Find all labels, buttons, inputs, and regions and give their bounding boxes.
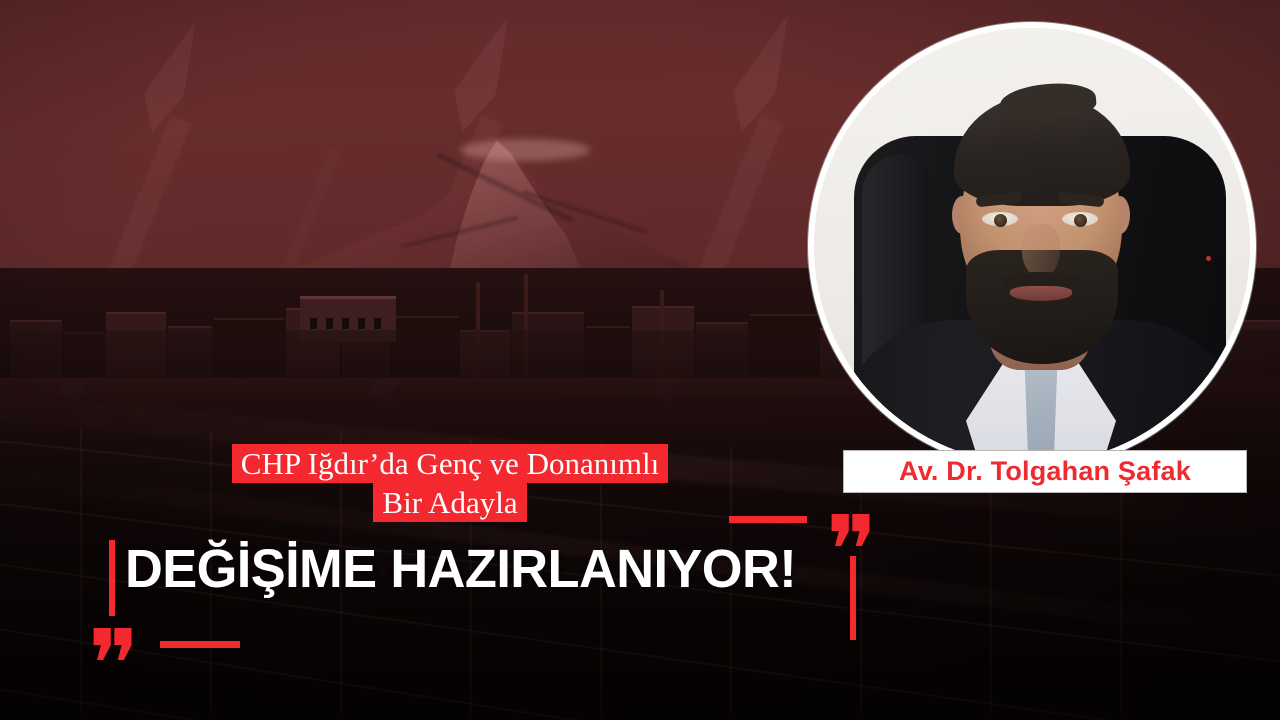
nose — [1022, 224, 1060, 278]
red-dot-marker — [1206, 256, 1211, 261]
bottom-accent-dash — [160, 641, 240, 648]
mouth — [1010, 286, 1072, 301]
candidate-name-text: Av. Dr. Tolgahan Şafak — [899, 456, 1191, 487]
kicker-line-1: CHP Iğdır’da Genç ve Donanımlı — [232, 444, 668, 483]
portrait-photo — [814, 28, 1250, 464]
headline-text: DEĞİŞİME HAZIRLANIYOR! — [125, 540, 796, 598]
right-accent-dash — [729, 516, 807, 523]
kicker-line-2: Bir Adayla — [373, 483, 526, 522]
kicker-block: CHP Iğdır’da Genç ve Donanımlı Bir Adayl… — [120, 444, 780, 522]
iris-right — [1074, 214, 1087, 227]
cover-image: Av. Dr. Tolgahan Şafak CHP Iğdır’da Genç… — [0, 0, 1280, 720]
iris-left — [994, 214, 1007, 227]
candidate-name-banner: Av. Dr. Tolgahan Şafak — [843, 450, 1247, 493]
left-accent-bar — [109, 540, 115, 616]
portrait-frame — [808, 22, 1256, 470]
